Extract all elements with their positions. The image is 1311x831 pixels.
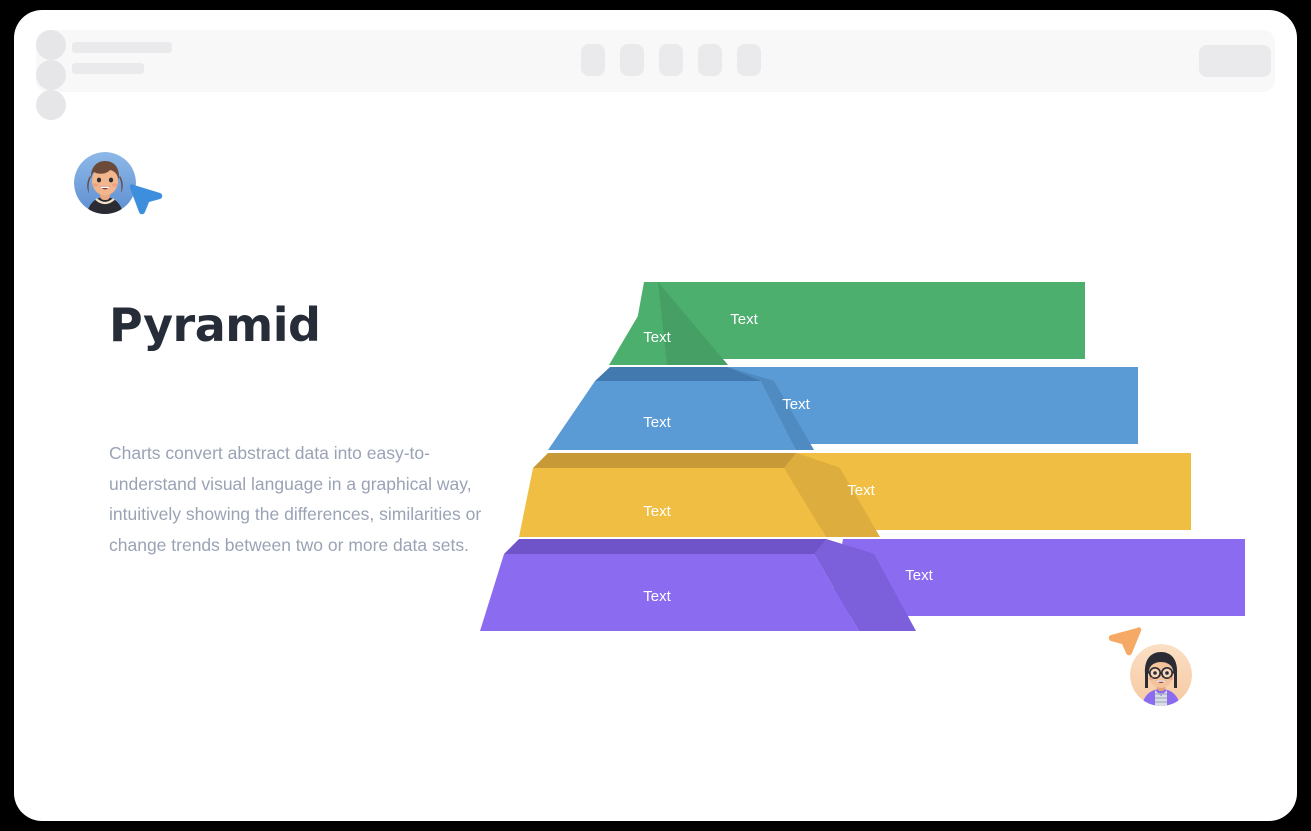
top-toolbar [36,30,1275,92]
pyramid-level-1-callout: Text [730,311,758,328]
pyramid-level-3[interactable]: Text Text [519,453,1191,537]
toolbar-tool-5-button[interactable] [737,44,761,76]
pyramid-level-4-top [504,539,874,554]
pyramid-level-3-callout: Text [847,482,875,499]
toolbar-tool-3-button[interactable] [659,44,683,76]
pyramid-level-3-top [533,453,840,468]
pyramid-level-3-side [784,453,880,537]
pyramid-level-4-label: Text [643,588,671,605]
toolbar-tool-2-button[interactable] [620,44,644,76]
collaborator-avatar-1[interactable] [36,30,66,60]
pyramid-level-2-callout: Text [782,396,810,413]
pyramid-level-2-top [595,367,774,381]
pyramid-level-1-side [658,282,728,365]
cursor-bottom-right-avatar[interactable] [1130,644,1192,706]
collaborator-avatar-2[interactable] [36,60,66,90]
pyramid-level-1-front [609,282,728,365]
document-title-placeholder[interactable] [72,42,172,53]
pyramid-level-2-bar [700,367,1138,444]
pyramid-level-1-label: Text [643,329,671,346]
pyramid-level-2-side-lower [761,381,814,450]
pyramid-level-4-side [814,539,916,631]
toolbar-tool-4-button[interactable] [698,44,722,76]
cursor-pointer-icon-blue [126,180,168,218]
pyramid-level-4-callout: Text [905,567,933,584]
pyramid-level-3-bar [766,453,1191,530]
pyramid-level-2-label: Text [643,414,671,431]
page-title: Pyramid [109,298,320,352]
page-description: Charts convert abstract data into easy-t… [109,438,491,560]
cursor-top-left[interactable] [62,142,172,227]
avatar-illustration-2 [1130,644,1192,706]
pyramid-level-4-front [480,554,859,631]
share-button[interactable] [1199,45,1271,77]
collaborator-avatar-3[interactable] [36,90,66,120]
document-subtitle-placeholder[interactable] [72,63,144,74]
pyramid-level-2-side [727,367,796,450]
pyramid-level-1[interactable]: Text Text [609,282,1085,365]
screenshot-root: Pyramid Charts convert abstract data int… [0,0,1311,831]
pyramid-level-3-front [519,468,826,537]
pyramid-level-4[interactable]: Text Text [480,539,1245,631]
pyramid-level-2[interactable]: Text Text [548,367,1138,450]
pyramid-level-4-bar [829,539,1245,616]
pyramid-level-2-front [548,381,796,450]
cursor-bottom-right[interactable] [1098,622,1208,710]
pyramid-level-1-bar [630,282,1085,359]
pyramid-level-3-label: Text [643,503,671,520]
toolbar-tool-1-button[interactable] [581,44,605,76]
